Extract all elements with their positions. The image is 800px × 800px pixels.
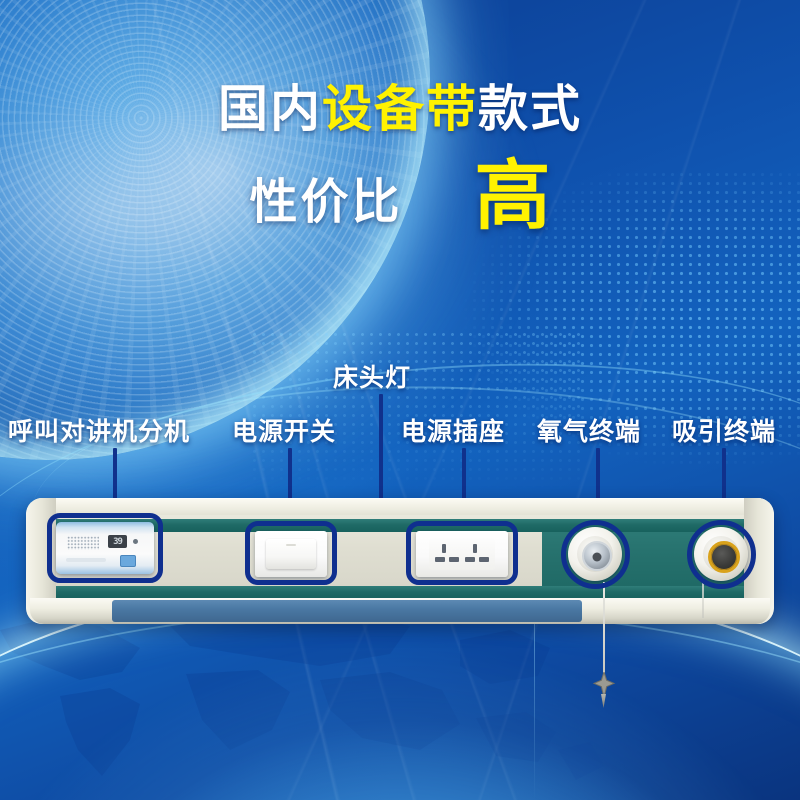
product-promo-image: 国内设备带款式 性价比 高 呼叫对讲机分机 电源开关 床头灯 电源插座 氧气终端… (0, 0, 800, 800)
highlight-box-nurse-call-intercom (47, 513, 163, 583)
callout-label-bed-lamp: 床头灯 (333, 358, 411, 394)
highlight-circle-oxygen-terminal (561, 520, 630, 589)
headline-part-2: 设备带 (322, 81, 478, 137)
highlight-circle-suction-terminal (687, 520, 756, 589)
callout-label-power-socket: 电源插座 (401, 412, 505, 448)
callout-label-suction-terminal: 吸引终端 (672, 412, 776, 448)
vertical-light-line (534, 620, 535, 800)
headline-part-1: 国内 (218, 81, 322, 137)
headline-primary: 国内设备带款式 (0, 84, 800, 134)
callout-label-nurse-call-intercom: 呼叫对讲机分机 (8, 412, 190, 448)
headline-secondary: 性价比 高 (0, 162, 800, 232)
headline-value-text: 性价比 (249, 162, 402, 232)
headline-emphasis-text: 高 (475, 163, 551, 231)
callout-label-oxygen-terminal: 氧气终端 (537, 412, 641, 448)
pull-cord-string[interactable] (603, 582, 605, 674)
panel-shadow-band (112, 600, 582, 622)
headline-part-3: 款式 (478, 81, 582, 137)
highlight-box-power-switch (245, 521, 337, 585)
callout-label-power-switch: 电源开关 (232, 412, 336, 448)
highlight-box-power-socket (406, 521, 518, 585)
